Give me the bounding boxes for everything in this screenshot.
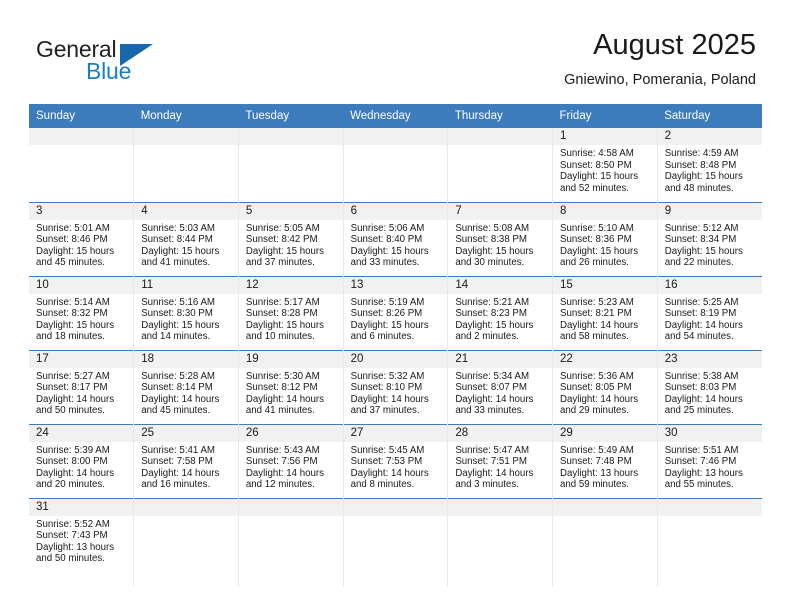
day-cell-inner: 3Sunrise: 5:01 AMSunset: 8:46 PMDaylight…: [29, 203, 133, 276]
day-details: Sunrise: 5:32 AMSunset: 8:10 PMDaylight:…: [344, 368, 448, 417]
day-cell-11[interactable]: 11Sunrise: 5:16 AMSunset: 8:30 PMDayligh…: [134, 276, 239, 350]
day-number: 10: [29, 277, 133, 294]
day-cell-31[interactable]: 31Sunrise: 5:52 AMSunset: 7:43 PMDayligh…: [29, 498, 134, 586]
day-cell-inner: 27Sunrise: 5:45 AMSunset: 7:53 PMDayligh…: [344, 425, 448, 498]
day-cell-7[interactable]: 7Sunrise: 5:08 AMSunset: 8:38 PMDaylight…: [448, 202, 553, 276]
day-detail-line: and 58 minutes.: [560, 331, 653, 343]
weekday-header-sunday: Sunday: [29, 104, 134, 128]
day-detail-line: Sunrise: 5:52 AM: [36, 519, 129, 531]
day-detail-line: Daylight: 15 hours: [455, 246, 548, 258]
day-number: 6: [344, 203, 448, 220]
day-details: Sunrise: 5:47 AMSunset: 7:51 PMDaylight:…: [448, 442, 552, 491]
title-block: August 2025 Gniewino, Pomerania, Poland: [564, 28, 756, 90]
day-detail-line: Sunrise: 5:03 AM: [141, 223, 234, 235]
day-detail-line: Sunset: 8:26 PM: [351, 308, 444, 320]
day-cell-inner: 8Sunrise: 5:10 AMSunset: 8:36 PMDaylight…: [553, 203, 657, 276]
day-cell-inner: 9Sunrise: 5:12 AMSunset: 8:34 PMDaylight…: [658, 203, 762, 276]
day-detail-line: Sunset: 8:03 PM: [665, 382, 758, 394]
calendar-header-row: SundayMondayTuesdayWednesdayThursdayFrid…: [29, 104, 762, 128]
day-details: Sunrise: 5:28 AMSunset: 8:14 PMDaylight:…: [134, 368, 238, 417]
day-number: 22: [553, 351, 657, 368]
day-cell-24[interactable]: 24Sunrise: 5:39 AMSunset: 8:00 PMDayligh…: [29, 424, 134, 498]
day-details: Sunrise: 5:41 AMSunset: 7:58 PMDaylight:…: [134, 442, 238, 491]
day-cell-empty: [134, 128, 239, 202]
day-cell-8[interactable]: 8Sunrise: 5:10 AMSunset: 8:36 PMDaylight…: [553, 202, 658, 276]
weekday-header-tuesday: Tuesday: [238, 104, 343, 128]
day-cell-inner: [29, 128, 133, 202]
day-cell-1[interactable]: 1Sunrise: 4:58 AMSunset: 8:50 PMDaylight…: [553, 128, 658, 202]
day-cell-9[interactable]: 9Sunrise: 5:12 AMSunset: 8:34 PMDaylight…: [657, 202, 762, 276]
day-number: 29: [553, 425, 657, 442]
day-detail-line: Sunrise: 5:01 AM: [36, 223, 129, 235]
day-detail-line: and 10 minutes.: [246, 331, 339, 343]
day-detail-line: Daylight: 15 hours: [246, 246, 339, 258]
day-number: [134, 499, 238, 516]
day-detail-line: Sunset: 8:14 PM: [141, 382, 234, 394]
day-detail-line: and 37 minutes.: [246, 257, 339, 269]
day-detail-line: Sunset: 8:40 PM: [351, 234, 444, 246]
day-cell-inner: 22Sunrise: 5:36 AMSunset: 8:05 PMDayligh…: [553, 351, 657, 424]
day-detail-line: Sunset: 8:44 PM: [141, 234, 234, 246]
calendar-week-row: 17Sunrise: 5:27 AMSunset: 8:17 PMDayligh…: [29, 350, 762, 424]
day-cell-inner: 13Sunrise: 5:19 AMSunset: 8:26 PMDayligh…: [344, 277, 448, 350]
page-title: August 2025: [564, 28, 756, 62]
day-cell-15[interactable]: 15Sunrise: 5:23 AMSunset: 8:21 PMDayligh…: [553, 276, 658, 350]
logo-word-blue: Blue: [86, 58, 131, 84]
day-details: Sunrise: 5:08 AMSunset: 8:38 PMDaylight:…: [448, 220, 552, 269]
day-details: Sunrise: 5:52 AMSunset: 7:43 PMDaylight:…: [29, 516, 133, 565]
day-detail-line: Daylight: 14 hours: [246, 394, 339, 406]
day-details: Sunrise: 5:34 AMSunset: 8:07 PMDaylight:…: [448, 368, 552, 417]
day-detail-line: Sunset: 8:38 PM: [455, 234, 548, 246]
day-detail-line: and 33 minutes.: [351, 257, 444, 269]
day-detail-line: Sunrise: 5:17 AM: [246, 297, 339, 309]
day-detail-line: Sunset: 8:30 PM: [141, 308, 234, 320]
day-detail-line: and 20 minutes.: [36, 479, 129, 491]
day-cell-inner: [134, 128, 238, 202]
day-detail-line: Sunrise: 5:05 AM: [246, 223, 339, 235]
day-detail-line: Daylight: 14 hours: [455, 468, 548, 480]
day-detail-line: Sunrise: 5:38 AM: [665, 371, 758, 383]
day-details: Sunrise: 5:01 AMSunset: 8:46 PMDaylight:…: [29, 220, 133, 269]
day-detail-line: Sunrise: 5:23 AM: [560, 297, 653, 309]
day-detail-line: and 6 minutes.: [351, 331, 444, 343]
day-detail-line: Daylight: 14 hours: [141, 394, 234, 406]
day-cell-inner: 10Sunrise: 5:14 AMSunset: 8:32 PMDayligh…: [29, 277, 133, 350]
day-number: 31: [29, 499, 133, 516]
day-details: Sunrise: 5:51 AMSunset: 7:46 PMDaylight:…: [658, 442, 762, 491]
day-cell-22[interactable]: 22Sunrise: 5:36 AMSunset: 8:05 PMDayligh…: [553, 350, 658, 424]
day-detail-line: Sunrise: 5:34 AM: [455, 371, 548, 383]
day-cell-17[interactable]: 17Sunrise: 5:27 AMSunset: 8:17 PMDayligh…: [29, 350, 134, 424]
day-cell-inner: 29Sunrise: 5:49 AMSunset: 7:48 PMDayligh…: [553, 425, 657, 498]
day-detail-line: Sunset: 8:21 PM: [560, 308, 653, 320]
day-detail-line: Sunset: 8:32 PM: [36, 308, 129, 320]
day-details: Sunrise: 5:23 AMSunset: 8:21 PMDaylight:…: [553, 294, 657, 343]
day-cell-inner: 17Sunrise: 5:27 AMSunset: 8:17 PMDayligh…: [29, 351, 133, 424]
day-cell-10[interactable]: 10Sunrise: 5:14 AMSunset: 8:32 PMDayligh…: [29, 276, 134, 350]
day-cell-inner: 11Sunrise: 5:16 AMSunset: 8:30 PMDayligh…: [134, 277, 238, 350]
day-detail-line: and 59 minutes.: [560, 479, 653, 491]
day-detail-line: and 45 minutes.: [141, 405, 234, 417]
day-details: Sunrise: 5:16 AMSunset: 8:30 PMDaylight:…: [134, 294, 238, 343]
day-cell-inner: 2Sunrise: 4:59 AMSunset: 8:48 PMDaylight…: [658, 128, 762, 202]
day-detail-line: Sunrise: 5:16 AM: [141, 297, 234, 309]
day-number: [29, 128, 133, 145]
day-cell-2[interactable]: 2Sunrise: 4:59 AMSunset: 8:48 PMDaylight…: [657, 128, 762, 202]
day-cell-13[interactable]: 13Sunrise: 5:19 AMSunset: 8:26 PMDayligh…: [343, 276, 448, 350]
day-detail-line: Daylight: 15 hours: [665, 246, 758, 258]
day-details: Sunrise: 5:17 AMSunset: 8:28 PMDaylight:…: [239, 294, 343, 343]
calendar-week-row: 24Sunrise: 5:39 AMSunset: 8:00 PMDayligh…: [29, 424, 762, 498]
day-detail-line: and 8 minutes.: [351, 479, 444, 491]
day-details: Sunrise: 5:06 AMSunset: 8:40 PMDaylight:…: [344, 220, 448, 269]
day-details: Sunrise: 5:49 AMSunset: 7:48 PMDaylight:…: [553, 442, 657, 491]
day-detail-line: and 25 minutes.: [665, 405, 758, 417]
day-number: [448, 128, 552, 145]
day-cell-inner: [344, 499, 448, 587]
location-subtitle: Gniewino, Pomerania, Poland: [564, 70, 756, 90]
day-detail-line: and 29 minutes.: [560, 405, 653, 417]
day-detail-line: Sunrise: 5:28 AM: [141, 371, 234, 383]
day-detail-line: Sunset: 8:48 PM: [665, 160, 758, 172]
day-detail-line: Sunset: 8:12 PM: [246, 382, 339, 394]
day-cell-empty: [448, 498, 553, 586]
day-cell-empty: [29, 128, 134, 202]
day-detail-line: and 16 minutes.: [141, 479, 234, 491]
day-cell-29[interactable]: 29Sunrise: 5:49 AMSunset: 7:48 PMDayligh…: [553, 424, 658, 498]
weekday-header-friday: Friday: [553, 104, 658, 128]
day-cell-inner: [344, 128, 448, 202]
day-number: 13: [344, 277, 448, 294]
day-detail-line: Sunrise: 5:43 AM: [246, 445, 339, 457]
day-cell-inner: 16Sunrise: 5:25 AMSunset: 8:19 PMDayligh…: [658, 277, 762, 350]
day-detail-line: Sunset: 8:46 PM: [36, 234, 129, 246]
day-cell-inner: 15Sunrise: 5:23 AMSunset: 8:21 PMDayligh…: [553, 277, 657, 350]
day-number: 3: [29, 203, 133, 220]
calendar-week-row: 10Sunrise: 5:14 AMSunset: 8:32 PMDayligh…: [29, 276, 762, 350]
day-detail-line: Sunset: 8:42 PM: [246, 234, 339, 246]
day-cell-inner: 20Sunrise: 5:32 AMSunset: 8:10 PMDayligh…: [344, 351, 448, 424]
day-number: 24: [29, 425, 133, 442]
day-detail-line: Sunset: 8:17 PM: [36, 382, 129, 394]
weekday-header-thursday: Thursday: [448, 104, 553, 128]
day-detail-line: and 55 minutes.: [665, 479, 758, 491]
day-number: 15: [553, 277, 657, 294]
day-cell-inner: 14Sunrise: 5:21 AMSunset: 8:23 PMDayligh…: [448, 277, 552, 350]
day-number: [344, 499, 448, 516]
day-detail-line: Sunrise: 5:14 AM: [36, 297, 129, 309]
day-detail-line: and 54 minutes.: [665, 331, 758, 343]
day-cell-inner: 19Sunrise: 5:30 AMSunset: 8:12 PMDayligh…: [239, 351, 343, 424]
day-cell-inner: [553, 499, 657, 587]
day-cell-inner: [239, 499, 343, 587]
day-cell-inner: 30Sunrise: 5:51 AMSunset: 7:46 PMDayligh…: [658, 425, 762, 498]
day-number: 12: [239, 277, 343, 294]
day-detail-line: Daylight: 15 hours: [246, 320, 339, 332]
day-cell-empty: [238, 128, 343, 202]
day-detail-line: and 41 minutes.: [246, 405, 339, 417]
day-detail-line: Daylight: 14 hours: [246, 468, 339, 480]
day-cell-inner: 24Sunrise: 5:39 AMSunset: 8:00 PMDayligh…: [29, 425, 133, 498]
day-detail-line: Sunset: 7:53 PM: [351, 456, 444, 468]
calendar-week-row: 31Sunrise: 5:52 AMSunset: 7:43 PMDayligh…: [29, 498, 762, 586]
day-number: 23: [658, 351, 762, 368]
day-detail-line: and 48 minutes.: [665, 183, 758, 195]
day-cell-inner: [448, 499, 552, 587]
day-detail-line: Sunrise: 5:41 AM: [141, 445, 234, 457]
day-detail-line: Sunset: 8:07 PM: [455, 382, 548, 394]
day-detail-line: Sunrise: 5:45 AM: [351, 445, 444, 457]
day-number: [344, 128, 448, 145]
day-cell-30[interactable]: 30Sunrise: 5:51 AMSunset: 7:46 PMDayligh…: [657, 424, 762, 498]
day-number: [448, 499, 552, 516]
day-detail-line: Sunrise: 5:27 AM: [36, 371, 129, 383]
day-detail-line: and 33 minutes.: [455, 405, 548, 417]
day-detail-line: and 26 minutes.: [560, 257, 653, 269]
day-detail-line: Sunset: 8:34 PM: [665, 234, 758, 246]
day-cell-21[interactable]: 21Sunrise: 5:34 AMSunset: 8:07 PMDayligh…: [448, 350, 553, 424]
day-detail-line: and 50 minutes.: [36, 553, 129, 565]
day-detail-line: Daylight: 13 hours: [665, 468, 758, 480]
day-details: Sunrise: 4:59 AMSunset: 8:48 PMDaylight:…: [658, 145, 762, 194]
day-cell-3[interactable]: 3Sunrise: 5:01 AMSunset: 8:46 PMDaylight…: [29, 202, 134, 276]
day-detail-line: and 41 minutes.: [141, 257, 234, 269]
day-cell-inner: 21Sunrise: 5:34 AMSunset: 8:07 PMDayligh…: [448, 351, 552, 424]
day-number: 1: [553, 128, 657, 145]
day-number: [658, 499, 762, 516]
day-cell-inner: 12Sunrise: 5:17 AMSunset: 8:28 PMDayligh…: [239, 277, 343, 350]
day-detail-line: Sunrise: 5:12 AM: [665, 223, 758, 235]
day-detail-line: Sunset: 7:58 PM: [141, 456, 234, 468]
calendar-body: 1Sunrise: 4:58 AMSunset: 8:50 PMDaylight…: [29, 128, 762, 586]
day-detail-line: Sunset: 7:48 PM: [560, 456, 653, 468]
day-cell-inner: 28Sunrise: 5:47 AMSunset: 7:51 PMDayligh…: [448, 425, 552, 498]
day-details: Sunrise: 5:38 AMSunset: 8:03 PMDaylight:…: [658, 368, 762, 417]
day-detail-line: Daylight: 14 hours: [455, 394, 548, 406]
day-detail-line: Sunset: 8:36 PM: [560, 234, 653, 246]
day-detail-line: and 45 minutes.: [36, 257, 129, 269]
calendar-page: General Blue August 2025 Gniewino, Pomer…: [0, 0, 792, 612]
day-detail-line: Sunrise: 5:25 AM: [665, 297, 758, 309]
day-detail-line: Sunset: 7:56 PM: [246, 456, 339, 468]
day-details: Sunrise: 5:14 AMSunset: 8:32 PMDaylight:…: [29, 294, 133, 343]
day-cell-empty: [448, 128, 553, 202]
day-detail-line: Sunrise: 5:39 AM: [36, 445, 129, 457]
day-cell-inner: 25Sunrise: 5:41 AMSunset: 7:58 PMDayligh…: [134, 425, 238, 498]
day-details: Sunrise: 5:05 AMSunset: 8:42 PMDaylight:…: [239, 220, 343, 269]
day-details: Sunrise: 5:36 AMSunset: 8:05 PMDaylight:…: [553, 368, 657, 417]
day-detail-line: Sunrise: 5:06 AM: [351, 223, 444, 235]
weekday-header-saturday: Saturday: [657, 104, 762, 128]
day-detail-line: and 12 minutes.: [246, 479, 339, 491]
day-cell-empty: [553, 498, 658, 586]
day-number: 7: [448, 203, 552, 220]
day-detail-line: Sunrise: 4:58 AM: [560, 148, 653, 160]
day-detail-line: Daylight: 15 hours: [455, 320, 548, 332]
day-cell-26[interactable]: 26Sunrise: 5:43 AMSunset: 7:56 PMDayligh…: [238, 424, 343, 498]
day-cell-empty: [657, 498, 762, 586]
day-detail-line: Daylight: 14 hours: [665, 320, 758, 332]
day-cell-empty: [134, 498, 239, 586]
day-detail-line: Daylight: 14 hours: [560, 394, 653, 406]
day-cell-inner: [658, 499, 762, 587]
day-cell-23[interactable]: 23Sunrise: 5:38 AMSunset: 8:03 PMDayligh…: [657, 350, 762, 424]
day-detail-line: Sunset: 7:51 PM: [455, 456, 548, 468]
calendar-grid: SundayMondayTuesdayWednesdayThursdayFrid…: [29, 104, 762, 586]
calendar-week-row: 1Sunrise: 4:58 AMSunset: 8:50 PMDaylight…: [29, 128, 762, 202]
day-cell-18[interactable]: 18Sunrise: 5:28 AMSunset: 8:14 PMDayligh…: [134, 350, 239, 424]
weekday-header-monday: Monday: [134, 104, 239, 128]
day-detail-line: Daylight: 15 hours: [560, 246, 653, 258]
day-detail-line: and 3 minutes.: [455, 479, 548, 491]
day-detail-line: Daylight: 15 hours: [141, 246, 234, 258]
page-header: General Blue August 2025 Gniewino, Pomer…: [0, 0, 792, 100]
day-cell-inner: 26Sunrise: 5:43 AMSunset: 7:56 PMDayligh…: [239, 425, 343, 498]
day-detail-line: Sunrise: 5:10 AM: [560, 223, 653, 235]
day-number: 30: [658, 425, 762, 442]
day-cell-inner: [134, 499, 238, 587]
day-number: 11: [134, 277, 238, 294]
day-detail-line: Daylight: 15 hours: [351, 246, 444, 258]
day-details: Sunrise: 5:39 AMSunset: 8:00 PMDaylight:…: [29, 442, 133, 491]
day-cell-inner: 31Sunrise: 5:52 AMSunset: 7:43 PMDayligh…: [29, 499, 133, 587]
calendar-week-row: 3Sunrise: 5:01 AMSunset: 8:46 PMDaylight…: [29, 202, 762, 276]
day-details: Sunrise: 5:25 AMSunset: 8:19 PMDaylight:…: [658, 294, 762, 343]
day-details: Sunrise: 5:27 AMSunset: 8:17 PMDaylight:…: [29, 368, 133, 417]
day-number: 28: [448, 425, 552, 442]
day-cell-16[interactable]: 16Sunrise: 5:25 AMSunset: 8:19 PMDayligh…: [657, 276, 762, 350]
day-cell-14[interactable]: 14Sunrise: 5:21 AMSunset: 8:23 PMDayligh…: [448, 276, 553, 350]
day-detail-line: Daylight: 13 hours: [36, 542, 129, 554]
day-number: 4: [134, 203, 238, 220]
day-number: [553, 499, 657, 516]
day-detail-line: Daylight: 14 hours: [351, 468, 444, 480]
day-detail-line: Sunset: 8:05 PM: [560, 382, 653, 394]
day-detail-line: Daylight: 15 hours: [141, 320, 234, 332]
day-cell-12[interactable]: 12Sunrise: 5:17 AMSunset: 8:28 PMDayligh…: [238, 276, 343, 350]
day-number: 5: [239, 203, 343, 220]
day-number: 16: [658, 277, 762, 294]
day-detail-line: Sunset: 8:28 PM: [246, 308, 339, 320]
day-number: 25: [134, 425, 238, 442]
day-detail-line: and 14 minutes.: [141, 331, 234, 343]
day-detail-line: and 52 minutes.: [560, 183, 653, 195]
day-cell-inner: 1Sunrise: 4:58 AMSunset: 8:50 PMDaylight…: [553, 128, 657, 202]
day-detail-line: Sunrise: 5:19 AM: [351, 297, 444, 309]
day-cell-20[interactable]: 20Sunrise: 5:32 AMSunset: 8:10 PMDayligh…: [343, 350, 448, 424]
day-detail-line: Daylight: 15 hours: [665, 171, 758, 183]
day-cell-empty: [343, 128, 448, 202]
day-number: 8: [553, 203, 657, 220]
day-detail-line: and 50 minutes.: [36, 405, 129, 417]
day-number: 2: [658, 128, 762, 145]
day-number: [239, 499, 343, 516]
day-detail-line: and 22 minutes.: [665, 257, 758, 269]
day-detail-line: Daylight: 14 hours: [36, 394, 129, 406]
day-cell-inner: 23Sunrise: 5:38 AMSunset: 8:03 PMDayligh…: [658, 351, 762, 424]
day-detail-line: Sunset: 8:00 PM: [36, 456, 129, 468]
day-detail-line: Sunrise: 4:59 AM: [665, 148, 758, 160]
day-number: 18: [134, 351, 238, 368]
day-detail-line: Sunrise: 5:51 AM: [665, 445, 758, 457]
day-cell-27[interactable]: 27Sunrise: 5:45 AMSunset: 7:53 PMDayligh…: [343, 424, 448, 498]
day-number: 14: [448, 277, 552, 294]
day-detail-line: Daylight: 15 hours: [351, 320, 444, 332]
day-detail-line: and 18 minutes.: [36, 331, 129, 343]
day-cell-19[interactable]: 19Sunrise: 5:30 AMSunset: 8:12 PMDayligh…: [238, 350, 343, 424]
day-detail-line: Sunrise: 5:32 AM: [351, 371, 444, 383]
day-details: Sunrise: 5:45 AMSunset: 7:53 PMDaylight:…: [344, 442, 448, 491]
day-details: Sunrise: 5:19 AMSunset: 8:26 PMDaylight:…: [344, 294, 448, 343]
day-cell-empty: [238, 498, 343, 586]
day-details: Sunrise: 5:12 AMSunset: 8:34 PMDaylight:…: [658, 220, 762, 269]
day-number: 19: [239, 351, 343, 368]
day-details: Sunrise: 5:10 AMSunset: 8:36 PMDaylight:…: [553, 220, 657, 269]
day-number: [239, 128, 343, 145]
day-detail-line: Sunset: 8:19 PM: [665, 308, 758, 320]
day-detail-line: Sunrise: 5:49 AM: [560, 445, 653, 457]
day-detail-line: and 37 minutes.: [351, 405, 444, 417]
day-detail-line: Sunset: 7:46 PM: [665, 456, 758, 468]
day-detail-line: Daylight: 13 hours: [560, 468, 653, 480]
day-number: 17: [29, 351, 133, 368]
day-detail-line: Sunset: 8:50 PM: [560, 160, 653, 172]
day-cell-inner: 5Sunrise: 5:05 AMSunset: 8:42 PMDaylight…: [239, 203, 343, 276]
day-cell-6[interactable]: 6Sunrise: 5:06 AMSunset: 8:40 PMDaylight…: [343, 202, 448, 276]
day-detail-line: Daylight: 15 hours: [560, 171, 653, 183]
day-details: Sunrise: 5:03 AMSunset: 8:44 PMDaylight:…: [134, 220, 238, 269]
day-number: 20: [344, 351, 448, 368]
day-detail-line: Sunrise: 5:47 AM: [455, 445, 548, 457]
day-detail-line: Sunset: 8:10 PM: [351, 382, 444, 394]
day-cell-5[interactable]: 5Sunrise: 5:05 AMSunset: 8:42 PMDaylight…: [238, 202, 343, 276]
day-detail-line: Sunrise: 5:36 AM: [560, 371, 653, 383]
day-cell-inner: 7Sunrise: 5:08 AMSunset: 8:38 PMDaylight…: [448, 203, 552, 276]
weekday-header-row: SundayMondayTuesdayWednesdayThursdayFrid…: [29, 104, 762, 128]
day-detail-line: and 2 minutes.: [455, 331, 548, 343]
day-detail-line: and 30 minutes.: [455, 257, 548, 269]
day-detail-line: Sunrise: 5:21 AM: [455, 297, 548, 309]
day-detail-line: Daylight: 14 hours: [351, 394, 444, 406]
day-cell-25[interactable]: 25Sunrise: 5:41 AMSunset: 7:58 PMDayligh…: [134, 424, 239, 498]
day-number: 21: [448, 351, 552, 368]
day-detail-line: Daylight: 14 hours: [141, 468, 234, 480]
day-detail-line: Sunrise: 5:30 AM: [246, 371, 339, 383]
day-details: Sunrise: 5:43 AMSunset: 7:56 PMDaylight:…: [239, 442, 343, 491]
day-detail-line: Sunrise: 5:08 AM: [455, 223, 548, 235]
day-cell-inner: [448, 128, 552, 202]
day-cell-4[interactable]: 4Sunrise: 5:03 AMSunset: 8:44 PMDaylight…: [134, 202, 239, 276]
general-blue-logo: General Blue: [36, 36, 236, 90]
day-number: 27: [344, 425, 448, 442]
day-cell-inner: [239, 128, 343, 202]
day-detail-line: Daylight: 14 hours: [36, 468, 129, 480]
day-cell-inner: 4Sunrise: 5:03 AMSunset: 8:44 PMDaylight…: [134, 203, 238, 276]
day-cell-28[interactable]: 28Sunrise: 5:47 AMSunset: 7:51 PMDayligh…: [448, 424, 553, 498]
day-cell-inner: 18Sunrise: 5:28 AMSunset: 8:14 PMDayligh…: [134, 351, 238, 424]
day-detail-line: Daylight: 14 hours: [665, 394, 758, 406]
day-cell-empty: [343, 498, 448, 586]
day-details: Sunrise: 5:21 AMSunset: 8:23 PMDaylight:…: [448, 294, 552, 343]
day-details: Sunrise: 5:30 AMSunset: 8:12 PMDaylight:…: [239, 368, 343, 417]
day-detail-line: Daylight: 15 hours: [36, 320, 129, 332]
day-number: [134, 128, 238, 145]
day-number: 9: [658, 203, 762, 220]
day-detail-line: Sunset: 8:23 PM: [455, 308, 548, 320]
day-detail-line: Sunset: 7:43 PM: [36, 530, 129, 542]
day-cell-inner: 6Sunrise: 5:06 AMSunset: 8:40 PMDaylight…: [344, 203, 448, 276]
